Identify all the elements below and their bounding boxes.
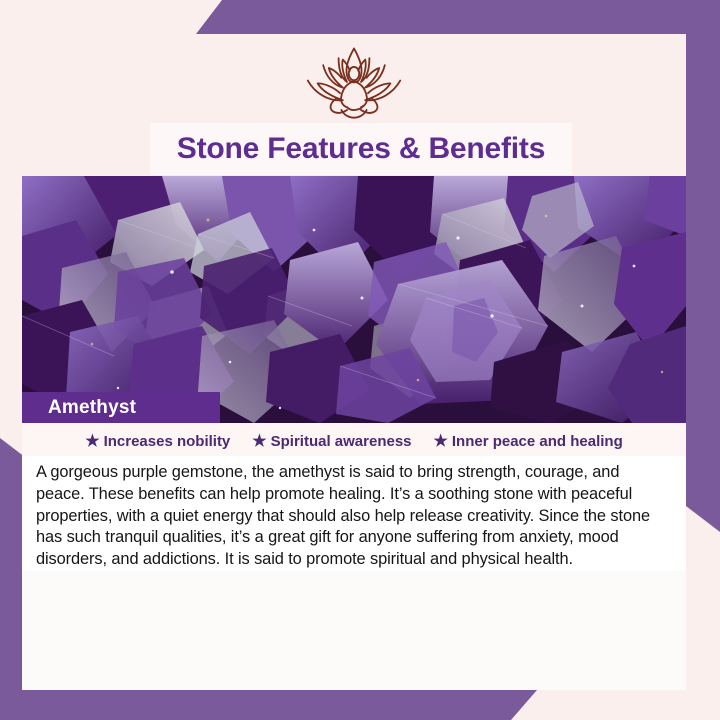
benefit-label: Spiritual awareness	[271, 433, 412, 450]
benefit-item-2: ★ Spiritual awareness	[252, 433, 411, 450]
benefits-list: ★ Increases nobility ★ Spiritual awarene…	[22, 423, 686, 456]
description-text: A gorgeous purple gemstone, the amethyst…	[36, 462, 660, 571]
page-title: Stone Features & Benefits	[177, 132, 545, 166]
frame-band-bottom	[0, 690, 537, 720]
star-icon: ★	[434, 434, 448, 450]
stone-photo: Amethyst	[22, 176, 686, 423]
page-title-plate: Stone Features & Benefits	[150, 123, 572, 175]
content-card: BUDDHA STONES Stone Features & Benefits	[22, 34, 686, 690]
lotus-meditation-icon	[298, 42, 410, 122]
stone-name: Amethyst	[48, 397, 136, 419]
frame-band-top	[196, 0, 720, 34]
benefit-label: Increases nobility	[104, 433, 231, 450]
benefit-label: Inner peace and healing	[452, 433, 623, 450]
frame-band-right	[686, 0, 720, 532]
description-section: A gorgeous purple gemstone, the amethyst…	[22, 456, 686, 571]
benefit-item-3: ★ Inner peace and healing	[434, 433, 623, 450]
benefit-item-1: ★ Increases nobility	[85, 433, 230, 450]
star-icon: ★	[85, 434, 99, 450]
stone-name-banner: Amethyst	[22, 392, 220, 423]
star-icon: ★	[252, 434, 266, 450]
